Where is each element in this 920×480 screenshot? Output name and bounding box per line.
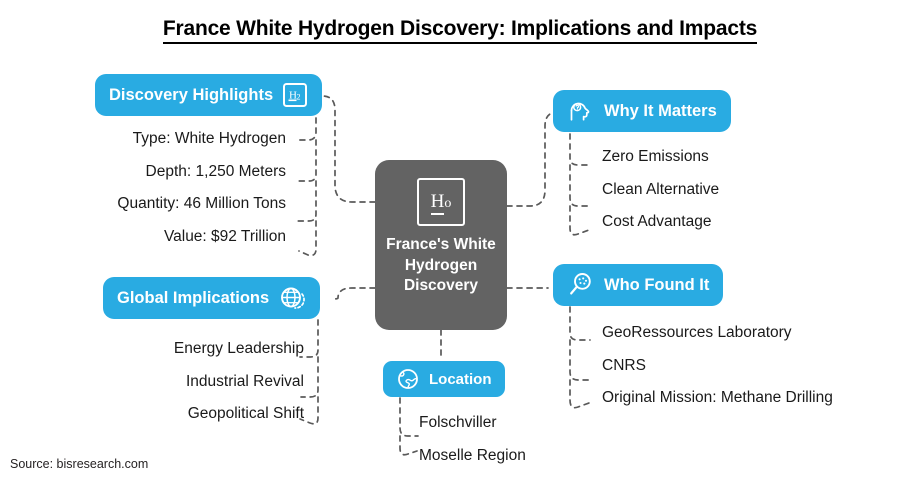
list-item: Type: White Hydrogen [133,131,286,147]
wire-discovery-item-0 [296,118,316,140]
leaf-list-location: Folschviller Moselle Region [419,415,526,463]
hydrogen-symbol-letter: H [431,191,445,215]
branch-label-discovery-highlights: Discovery Highlights [109,87,273,104]
leaf-list-global-implications: Energy Leadership Industrial Revival Geo… [174,341,304,422]
branch-badge-discovery-highlights[interactable]: Discovery Highlights H 2 [95,74,322,116]
list-item: Value: $92 Trillion [164,229,286,245]
globe-icon [396,367,420,391]
list-item: Energy Leadership [174,341,304,357]
list-item: GeoRessources Laboratory [602,325,792,341]
list-item: Clean Alternative [602,182,719,198]
branch-badge-who-found-it[interactable]: Who Found It [553,264,723,306]
wire-discovery-item-1 [298,140,316,181]
wire-center-global [332,288,375,299]
list-item: Moselle Region [419,448,526,464]
wire-discovery-item-3 [299,221,316,255]
wire-why-item-1 [570,165,590,206]
page-title: France White Hydrogen Discovery: Implica… [0,17,920,41]
page-title-text: France White Hydrogen Discovery: Implica… [163,17,757,44]
wire-why-item-0 [570,134,590,165]
wire-location-item-0 [400,398,418,436]
branch-badge-why-it-matters[interactable]: Why It Matters [553,90,731,132]
magnifier-dots-icon [567,271,595,299]
wire-why-item-2 [570,206,589,235]
wire-who-item-2 [570,380,589,408]
list-item: Original Mission: Methane Drilling [602,390,833,406]
branch-label-who-found-it: Who Found It [604,277,709,294]
list-item: Cost Advantage [602,214,711,230]
hydrogen-symbol-sub: o [444,196,451,211]
list-item: Folschviller [419,415,497,431]
wire-who-item-0 [570,307,590,340]
globe-sync-icon [278,284,306,312]
leaf-list-who-found-it: GeoRessources Laboratory CNRS Original M… [602,325,833,406]
list-item: Depth: 1,250 Meters [146,164,286,180]
branch-badge-location[interactable]: Location [383,361,505,397]
wire-center-discovery [322,96,375,202]
list-item: Quantity: 46 Million Tons [117,196,286,212]
source-credit: Source: bisresearch.com [10,457,148,471]
list-item: CNRS [602,358,646,374]
list-item: Industrial Revival [186,374,304,390]
head-question-icon [567,97,595,125]
branch-label-why-it-matters: Why It Matters [604,103,717,120]
wire-discovery-item-2 [296,181,316,221]
branch-badge-global-implications[interactable]: Global Implications [103,277,320,319]
branch-label-location: Location [429,372,492,387]
wire-who-item-1 [570,340,590,380]
central-node[interactable]: Ho France's White Hydrogen Discovery [375,160,507,330]
branch-label-global-implications: Global Implications [117,290,269,307]
hydrogen-element-icon: Ho [417,178,465,226]
hydrogen-element-icon: H 2 [282,82,308,108]
wire-center-why [507,112,558,206]
list-item: Geopolitical Shift [188,406,304,422]
svg-text:2: 2 [297,93,301,102]
leaf-list-why-it-matters: Zero Emissions Clean Alternative Cost Ad… [602,149,719,230]
list-item: Zero Emissions [602,149,709,165]
central-node-label: France's White Hydrogen Discovery [382,235,500,297]
leaf-list-discovery-highlights: Type: White Hydrogen Depth: 1,250 Meters… [117,131,286,244]
wire-location-item-1 [400,436,417,455]
infographic-canvas: France White Hydrogen Discovery: Implica… [0,0,920,480]
